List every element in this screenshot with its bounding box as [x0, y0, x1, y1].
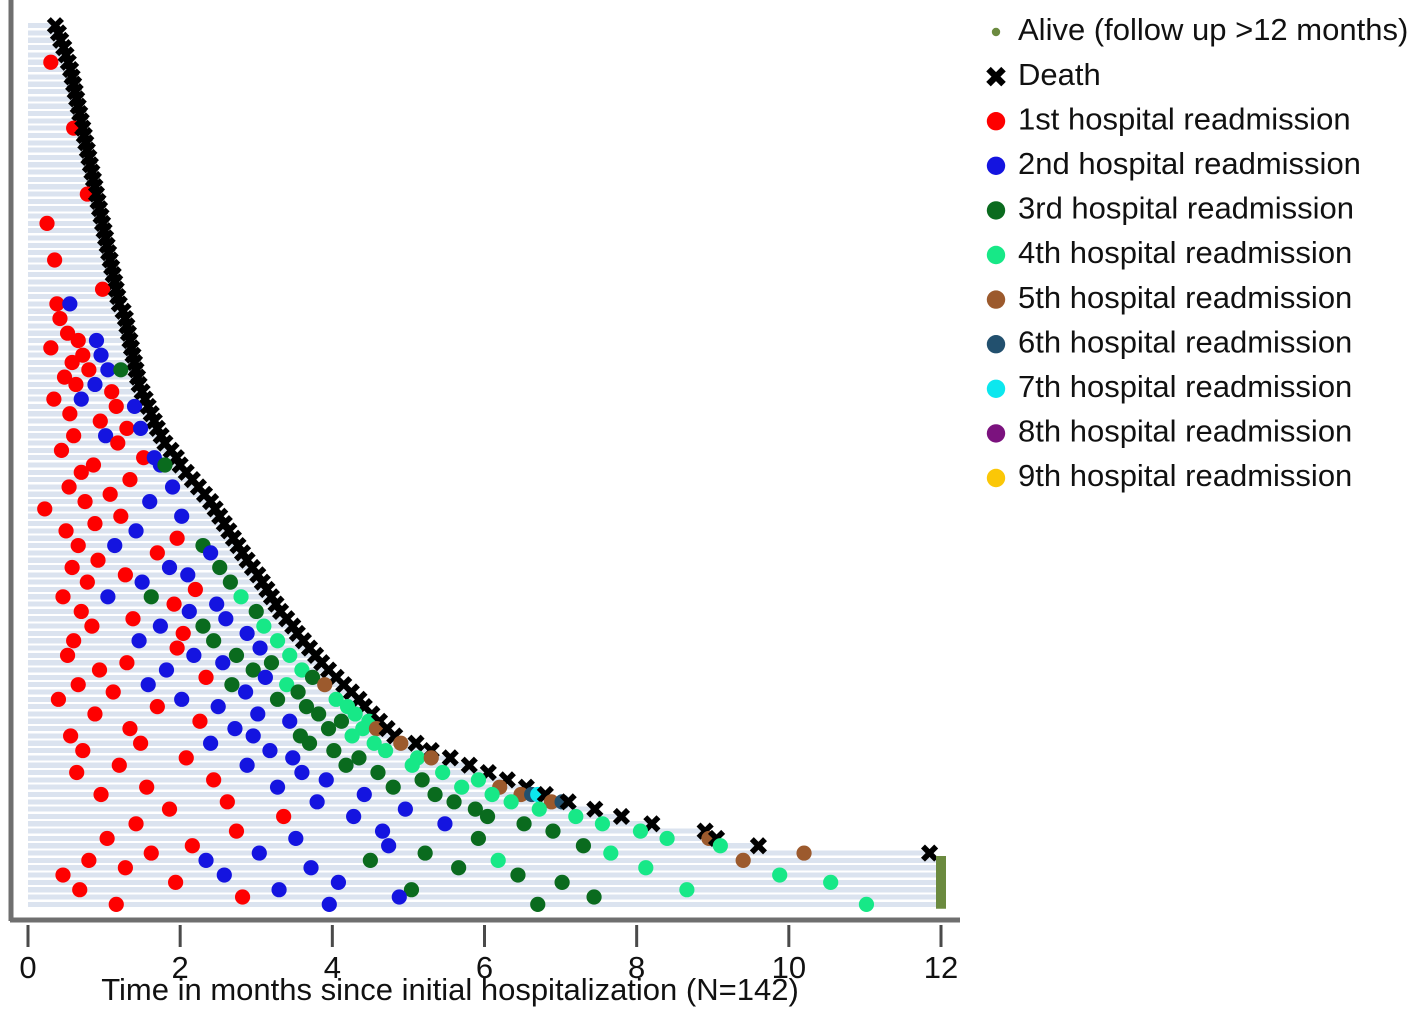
readmission-marker — [72, 882, 87, 897]
readmission-marker — [321, 721, 336, 736]
readmission-marker — [100, 362, 115, 377]
readmission-marker — [392, 889, 407, 904]
readmission-marker — [110, 435, 125, 450]
subject-bar — [28, 865, 941, 870]
readmission-marker — [192, 714, 207, 729]
readmission-marker — [180, 567, 195, 582]
legend-readmission-icon — [987, 246, 1005, 264]
readmission-marker — [61, 479, 76, 494]
readmission-marker — [100, 831, 115, 846]
subject-bar — [28, 316, 125, 321]
readmission-marker — [435, 765, 450, 780]
readmission-marker — [52, 311, 67, 326]
readmission-marker — [375, 824, 390, 839]
readmission-marker — [174, 509, 189, 524]
readmission-marker — [217, 867, 232, 882]
readmission-marker — [249, 604, 264, 619]
readmission-marker — [170, 531, 185, 546]
readmission-marker — [437, 816, 452, 831]
readmission-marker — [74, 604, 89, 619]
readmission-marker — [153, 618, 168, 633]
subject-bar — [28, 419, 154, 424]
readmission-marker — [176, 626, 191, 641]
readmission-marker — [66, 633, 81, 648]
readmission-marker — [170, 640, 185, 655]
readmission-marker — [454, 780, 469, 795]
subject-bar — [28, 177, 93, 182]
readmission-marker — [133, 736, 148, 751]
readmission-marker — [162, 802, 177, 817]
subject-bar — [28, 257, 110, 262]
legend-label: 2nd hospital readmission — [1018, 146, 1361, 181]
readmission-marker — [491, 853, 506, 868]
readmission-marker — [43, 340, 58, 355]
readmission-marker — [128, 816, 143, 831]
legend-label: 4th hospital readmission — [1018, 235, 1352, 270]
readmission-marker — [532, 802, 547, 817]
readmission-marker — [68, 377, 83, 392]
subject-bar — [28, 323, 127, 328]
subject-bar — [28, 228, 104, 233]
readmission-marker — [235, 889, 250, 904]
readmission-marker — [46, 391, 61, 406]
readmission-marker — [103, 487, 118, 502]
readmission-marker — [203, 545, 218, 560]
swimmer-plot-figure: 024681012 Time in months since initial h… — [0, 0, 1418, 1026]
readmission-marker — [516, 816, 531, 831]
readmission-marker — [282, 714, 297, 729]
readmission-marker — [179, 750, 194, 765]
readmission-marker — [51, 692, 66, 707]
legend-readmission-icon — [987, 157, 1005, 175]
readmission-marker — [224, 677, 239, 692]
subject-bar — [28, 235, 106, 240]
subject-bar — [28, 851, 930, 856]
legend-label: 3rd hospital readmission — [1018, 191, 1354, 226]
readmission-marker — [92, 662, 107, 677]
readmission-marker — [159, 662, 174, 677]
readmission-marker — [203, 736, 218, 751]
readmission-marker — [71, 538, 86, 553]
readmission-marker — [122, 472, 137, 487]
readmission-marker — [182, 604, 197, 619]
readmission-marker — [510, 867, 525, 882]
readmission-marker — [62, 406, 77, 421]
subject-bar — [28, 250, 109, 255]
readmission-marker — [393, 736, 408, 751]
readmission-marker — [93, 348, 108, 363]
readmission-marker — [113, 362, 128, 377]
subject-bar — [28, 777, 507, 782]
readmission-marker — [427, 787, 442, 802]
readmission-marker — [326, 743, 341, 758]
readmission-marker — [89, 333, 104, 348]
readmission-marker — [125, 611, 140, 626]
legend-label: 8th hospital readmission — [1018, 414, 1352, 449]
readmission-marker — [638, 860, 653, 875]
readmission-marker — [60, 648, 75, 663]
readmission-marker — [93, 787, 108, 802]
readmission-marker — [545, 824, 560, 839]
readmission-marker — [63, 728, 78, 743]
legend-readmission-icon — [987, 424, 1005, 442]
subject-bar — [28, 667, 329, 672]
readmission-marker — [660, 831, 675, 846]
readmission-marker — [109, 897, 124, 912]
readmission-marker — [66, 428, 81, 443]
readmission-marker — [81, 853, 96, 868]
readmission-marker — [87, 377, 102, 392]
readmission-marker — [211, 699, 226, 714]
readmission-marker — [71, 333, 86, 348]
readmission-marker — [603, 845, 618, 860]
readmission-marker — [122, 721, 137, 736]
readmission-marker — [81, 362, 96, 377]
readmission-marker — [386, 780, 401, 795]
readmission-marker — [736, 853, 751, 868]
legend-readmission-icon — [987, 380, 1005, 398]
readmission-marker — [285, 750, 300, 765]
readmission-marker — [39, 216, 54, 231]
x-tick-label: 12 — [924, 950, 958, 985]
readmission-marker — [471, 772, 486, 787]
readmission-marker — [288, 831, 303, 846]
readmission-marker — [47, 252, 62, 267]
legend-label: 1st hospital readmission — [1018, 101, 1351, 136]
legend-readmission-icon — [987, 112, 1005, 130]
readmission-marker — [139, 780, 154, 795]
readmission-marker — [229, 824, 244, 839]
readmission-marker — [398, 802, 413, 817]
legend-label: Death — [1018, 57, 1101, 92]
subject-bar — [28, 872, 941, 877]
readmission-marker — [229, 648, 244, 663]
subject-bar — [28, 499, 211, 504]
x-axis-title: Time in months since initial hospitaliza… — [101, 972, 799, 1007]
legend-label: 6th hospital readmission — [1018, 324, 1352, 359]
subject-bar — [28, 206, 100, 211]
readmission-marker — [118, 567, 133, 582]
readmission-marker — [162, 560, 177, 575]
readmission-marker — [405, 758, 420, 773]
readmission-marker — [144, 845, 159, 860]
readmission-marker — [240, 758, 255, 773]
readmission-marker — [142, 494, 157, 509]
readmission-marker — [451, 860, 466, 875]
readmission-marker — [471, 831, 486, 846]
readmission-marker — [424, 750, 439, 765]
readmission-marker — [530, 897, 545, 912]
readmission-marker — [322, 897, 337, 912]
readmission-marker — [150, 545, 165, 560]
readmission-marker — [713, 838, 728, 853]
legend-label: 7th hospital readmission — [1018, 369, 1352, 404]
readmission-marker — [77, 494, 92, 509]
readmission-marker — [223, 575, 238, 590]
readmission-marker — [119, 655, 134, 670]
readmission-marker — [128, 523, 143, 538]
readmission-marker — [270, 633, 285, 648]
readmission-marker — [302, 736, 317, 751]
readmission-marker — [215, 655, 230, 670]
legend-readmission-icon — [987, 290, 1005, 308]
readmission-marker — [118, 860, 133, 875]
readmission-marker — [58, 523, 73, 538]
readmission-marker — [150, 699, 165, 714]
readmission-marker — [84, 618, 99, 633]
readmission-marker — [823, 875, 838, 890]
subject-bar — [28, 880, 941, 885]
readmission-marker — [418, 845, 433, 860]
swimmer-plot-svg: 024681012 Time in months since initial h… — [0, 0, 1418, 1026]
readmission-marker — [165, 479, 180, 494]
readmission-marker — [240, 626, 255, 641]
readmission-marker — [74, 465, 89, 480]
readmission-marker — [504, 794, 519, 809]
readmission-marker — [106, 684, 121, 699]
readmission-marker — [772, 867, 787, 882]
subject-bar — [28, 814, 621, 819]
subject-bar — [28, 521, 224, 526]
readmission-marker — [252, 845, 267, 860]
readmission-marker — [188, 582, 203, 597]
readmission-marker — [446, 794, 461, 809]
readmission-marker — [319, 772, 334, 787]
subject-bar — [28, 836, 717, 841]
readmission-marker — [303, 860, 318, 875]
readmission-marker — [480, 809, 495, 824]
readmission-marker — [252, 640, 267, 655]
readmission-marker — [348, 706, 363, 721]
readmission-marker — [258, 670, 273, 685]
readmission-marker — [378, 743, 393, 758]
readmission-marker — [166, 597, 181, 612]
readmission-marker — [87, 706, 102, 721]
legend-death-icon — [989, 69, 1004, 84]
subject-bar — [28, 170, 92, 175]
subject-bar — [28, 265, 112, 270]
subject-bar — [28, 609, 281, 614]
readmission-marker — [633, 824, 648, 839]
readmission-marker — [586, 889, 601, 904]
subject-bar — [28, 528, 229, 533]
subject-bar — [28, 887, 941, 892]
readmission-marker — [95, 282, 110, 297]
readmission-marker — [168, 875, 183, 890]
readmission-marker — [186, 648, 201, 663]
readmission-marker — [264, 655, 279, 670]
readmission-marker — [54, 443, 69, 458]
readmission-marker — [363, 853, 378, 868]
readmission-marker — [381, 838, 396, 853]
readmission-marker — [104, 384, 119, 399]
readmission-marker — [218, 611, 233, 626]
readmission-marker — [276, 809, 291, 824]
readmission-marker — [415, 772, 430, 787]
readmission-marker — [370, 765, 385, 780]
readmission-marker — [568, 809, 583, 824]
readmission-marker — [93, 413, 108, 428]
readmission-marker — [71, 677, 86, 692]
readmission-marker — [262, 743, 277, 758]
readmission-marker — [65, 355, 80, 370]
readmission-marker — [859, 897, 874, 912]
readmission-marker — [195, 618, 210, 633]
readmission-marker — [55, 589, 70, 604]
readmission-marker — [345, 728, 360, 743]
readmission-marker — [62, 296, 77, 311]
readmission-marker — [109, 399, 124, 414]
legend-readmission-icon — [987, 469, 1005, 487]
readmission-marker — [198, 670, 213, 685]
readmission-marker — [113, 509, 128, 524]
readmission-marker — [37, 501, 52, 516]
readmission-marker — [485, 787, 500, 802]
readmission-marker — [133, 421, 148, 436]
x-tick-label: 0 — [19, 950, 36, 985]
readmission-marker — [290, 684, 305, 699]
legend: Alive (follow up >12 months)Death1st hos… — [987, 12, 1408, 493]
readmission-marker — [55, 867, 70, 882]
readmission-marker — [246, 728, 261, 743]
readmission-marker — [294, 765, 309, 780]
readmission-marker — [174, 692, 189, 707]
readmission-marker — [250, 706, 265, 721]
readmission-marker — [141, 677, 156, 692]
readmission-marker — [119, 421, 134, 436]
legend-readmission-icon — [987, 201, 1005, 219]
readmission-marker — [595, 816, 610, 831]
readmission-marker — [346, 809, 361, 824]
readmission-marker — [107, 538, 122, 553]
subject-bar — [28, 382, 139, 387]
readmission-marker — [679, 882, 694, 897]
legend-label: 5th hospital readmission — [1018, 280, 1352, 315]
subject-bar — [28, 440, 165, 445]
readmission-marker — [796, 845, 811, 860]
legend-label: 9th hospital readmission — [1018, 458, 1352, 493]
readmission-marker — [131, 633, 146, 648]
readmission-marker — [311, 706, 326, 721]
subject-bar — [28, 162, 90, 167]
readmission-marker — [43, 55, 58, 70]
legend-readmission-icon — [987, 335, 1005, 353]
subject-bar — [28, 272, 113, 277]
readmission-marker — [206, 633, 221, 648]
readmission-marker — [87, 516, 102, 531]
readmission-marker — [206, 772, 221, 787]
legend-alive-icon — [992, 28, 1000, 36]
readmission-marker — [198, 853, 213, 868]
readmission-marker — [576, 838, 591, 853]
readmission-marker — [227, 721, 242, 736]
readmission-marker — [310, 794, 325, 809]
readmission-marker — [220, 794, 235, 809]
readmission-marker — [80, 575, 95, 590]
readmission-marker — [233, 589, 248, 604]
readmission-marker — [357, 787, 372, 802]
subject-bar — [28, 894, 941, 899]
readmission-marker — [256, 618, 271, 633]
readmission-marker — [65, 560, 80, 575]
readmission-marker — [270, 780, 285, 795]
readmission-marker — [75, 743, 90, 758]
subject-bar — [28, 309, 123, 314]
readmission-marker — [271, 882, 286, 897]
subject-bar — [28, 821, 652, 826]
subject-bar — [28, 243, 107, 248]
readmission-marker — [351, 750, 366, 765]
subject-bar — [28, 213, 101, 218]
readmission-marker — [112, 758, 127, 773]
readmission-marker — [157, 457, 172, 472]
readmission-marker — [282, 648, 297, 663]
readmission-marker — [144, 589, 159, 604]
readmission-marker — [185, 838, 200, 853]
readmission-marker — [331, 875, 346, 890]
legend-label: Alive (follow up >12 months) — [1018, 12, 1408, 47]
readmission-marker — [90, 553, 105, 568]
readmission-marker — [270, 692, 285, 707]
readmission-marker — [100, 589, 115, 604]
readmission-marker — [49, 296, 64, 311]
readmission-marker — [317, 677, 332, 692]
readmission-marker — [209, 597, 224, 612]
readmission-marker — [127, 399, 142, 414]
readmission-marker — [555, 875, 570, 890]
readmission-marker — [338, 758, 353, 773]
readmission-marker — [238, 684, 253, 699]
readmission-marker — [74, 391, 89, 406]
readmission-marker — [135, 575, 150, 590]
alive-marker — [936, 900, 946, 909]
subject-bar — [28, 902, 941, 907]
readmission-marker — [334, 714, 349, 729]
readmission-marker — [69, 765, 84, 780]
subject-bar — [28, 221, 103, 226]
readmission-marker — [212, 560, 227, 575]
